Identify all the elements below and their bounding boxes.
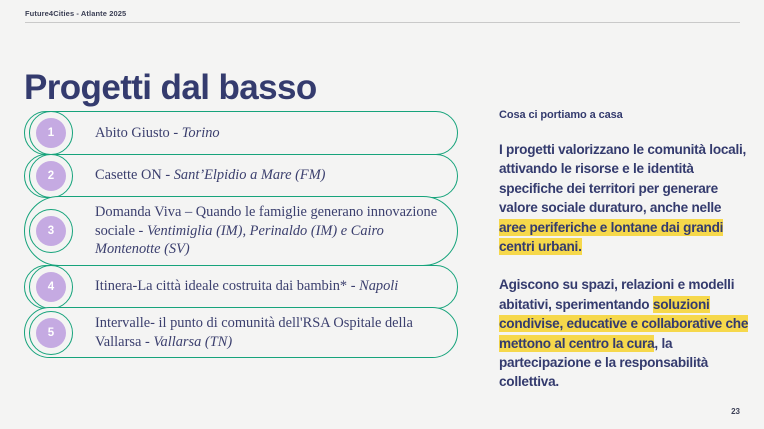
page-title: Progetti dal basso (24, 68, 317, 108)
project-name: Intervalle- il punto di comunità dell'RS… (95, 315, 413, 350)
header-divider (25, 22, 740, 23)
list-item-number: 5 (36, 318, 66, 348)
list-item-label: Intervalle- il punto di comunità dell'RS… (95, 314, 439, 351)
list-item[interactable]: 3 Domanda Viva – Quando le famiglie gene… (24, 196, 458, 266)
takeaway-paragraph-2: Agiscono su spazi, relazioni e modelli a… (499, 275, 749, 391)
takeaway-paragraph-1: I progetti valorizzano le comunità local… (499, 140, 749, 256)
project-location: Napoli (359, 278, 398, 294)
list-item-number: 1 (36, 118, 66, 148)
paragraph-1-highlight: aree periferiche e lontane dai grandi ce… (499, 219, 723, 255)
project-name: Casette ON - (95, 167, 174, 183)
project-list: 1 Abito Giusto - Torino 2 Casette ON - S… (24, 111, 458, 358)
list-item-number: 4 (36, 272, 66, 302)
list-item[interactable]: 2 Casette ON - Sant’Elpidio a Mare (FM) (24, 154, 458, 198)
list-item-label: Abito Giusto - Torino (95, 124, 220, 143)
slide-root: { "header": { "kicker": "Future4Cities -… (0, 0, 764, 429)
takeaway-panel: Cosa ci portiamo a casa I progetti valor… (499, 108, 749, 405)
paragraph-1-text-before: I progetti valorizzano le comunità local… (499, 142, 746, 215)
list-item-label: Domanda Viva – Quando le famiglie genera… (95, 203, 439, 259)
list-item[interactable]: 4 Itinera-La città ideale costruita dai … (24, 265, 458, 309)
list-item-number: 2 (36, 161, 66, 191)
list-item-label: Casette ON - Sant’Elpidio a Mare (FM) (95, 166, 325, 185)
list-item[interactable]: 1 Abito Giusto - Torino (24, 111, 458, 155)
list-item-label: Itinera-La città ideale costruita dai ba… (95, 277, 398, 296)
list-item-number: 3 (36, 216, 66, 246)
slide-header: Future4Cities - Atlante 2025 (25, 9, 740, 23)
project-name: Itinera-La città ideale costruita dai ba… (95, 278, 359, 294)
project-location: Torino (182, 125, 220, 141)
project-name: Abito Giusto - (95, 125, 182, 141)
project-location: Sant’Elpidio a Mare (FM) (174, 167, 326, 183)
list-item[interactable]: 5 Intervalle- il punto di comunità dell'… (24, 307, 458, 358)
header-kicker: Future4Cities - Atlante 2025 (25, 9, 740, 19)
project-location: Vallarsa (TN) (153, 334, 232, 350)
takeaway-label: Cosa ci portiamo a casa (499, 108, 749, 122)
page-number: 23 (731, 407, 740, 416)
